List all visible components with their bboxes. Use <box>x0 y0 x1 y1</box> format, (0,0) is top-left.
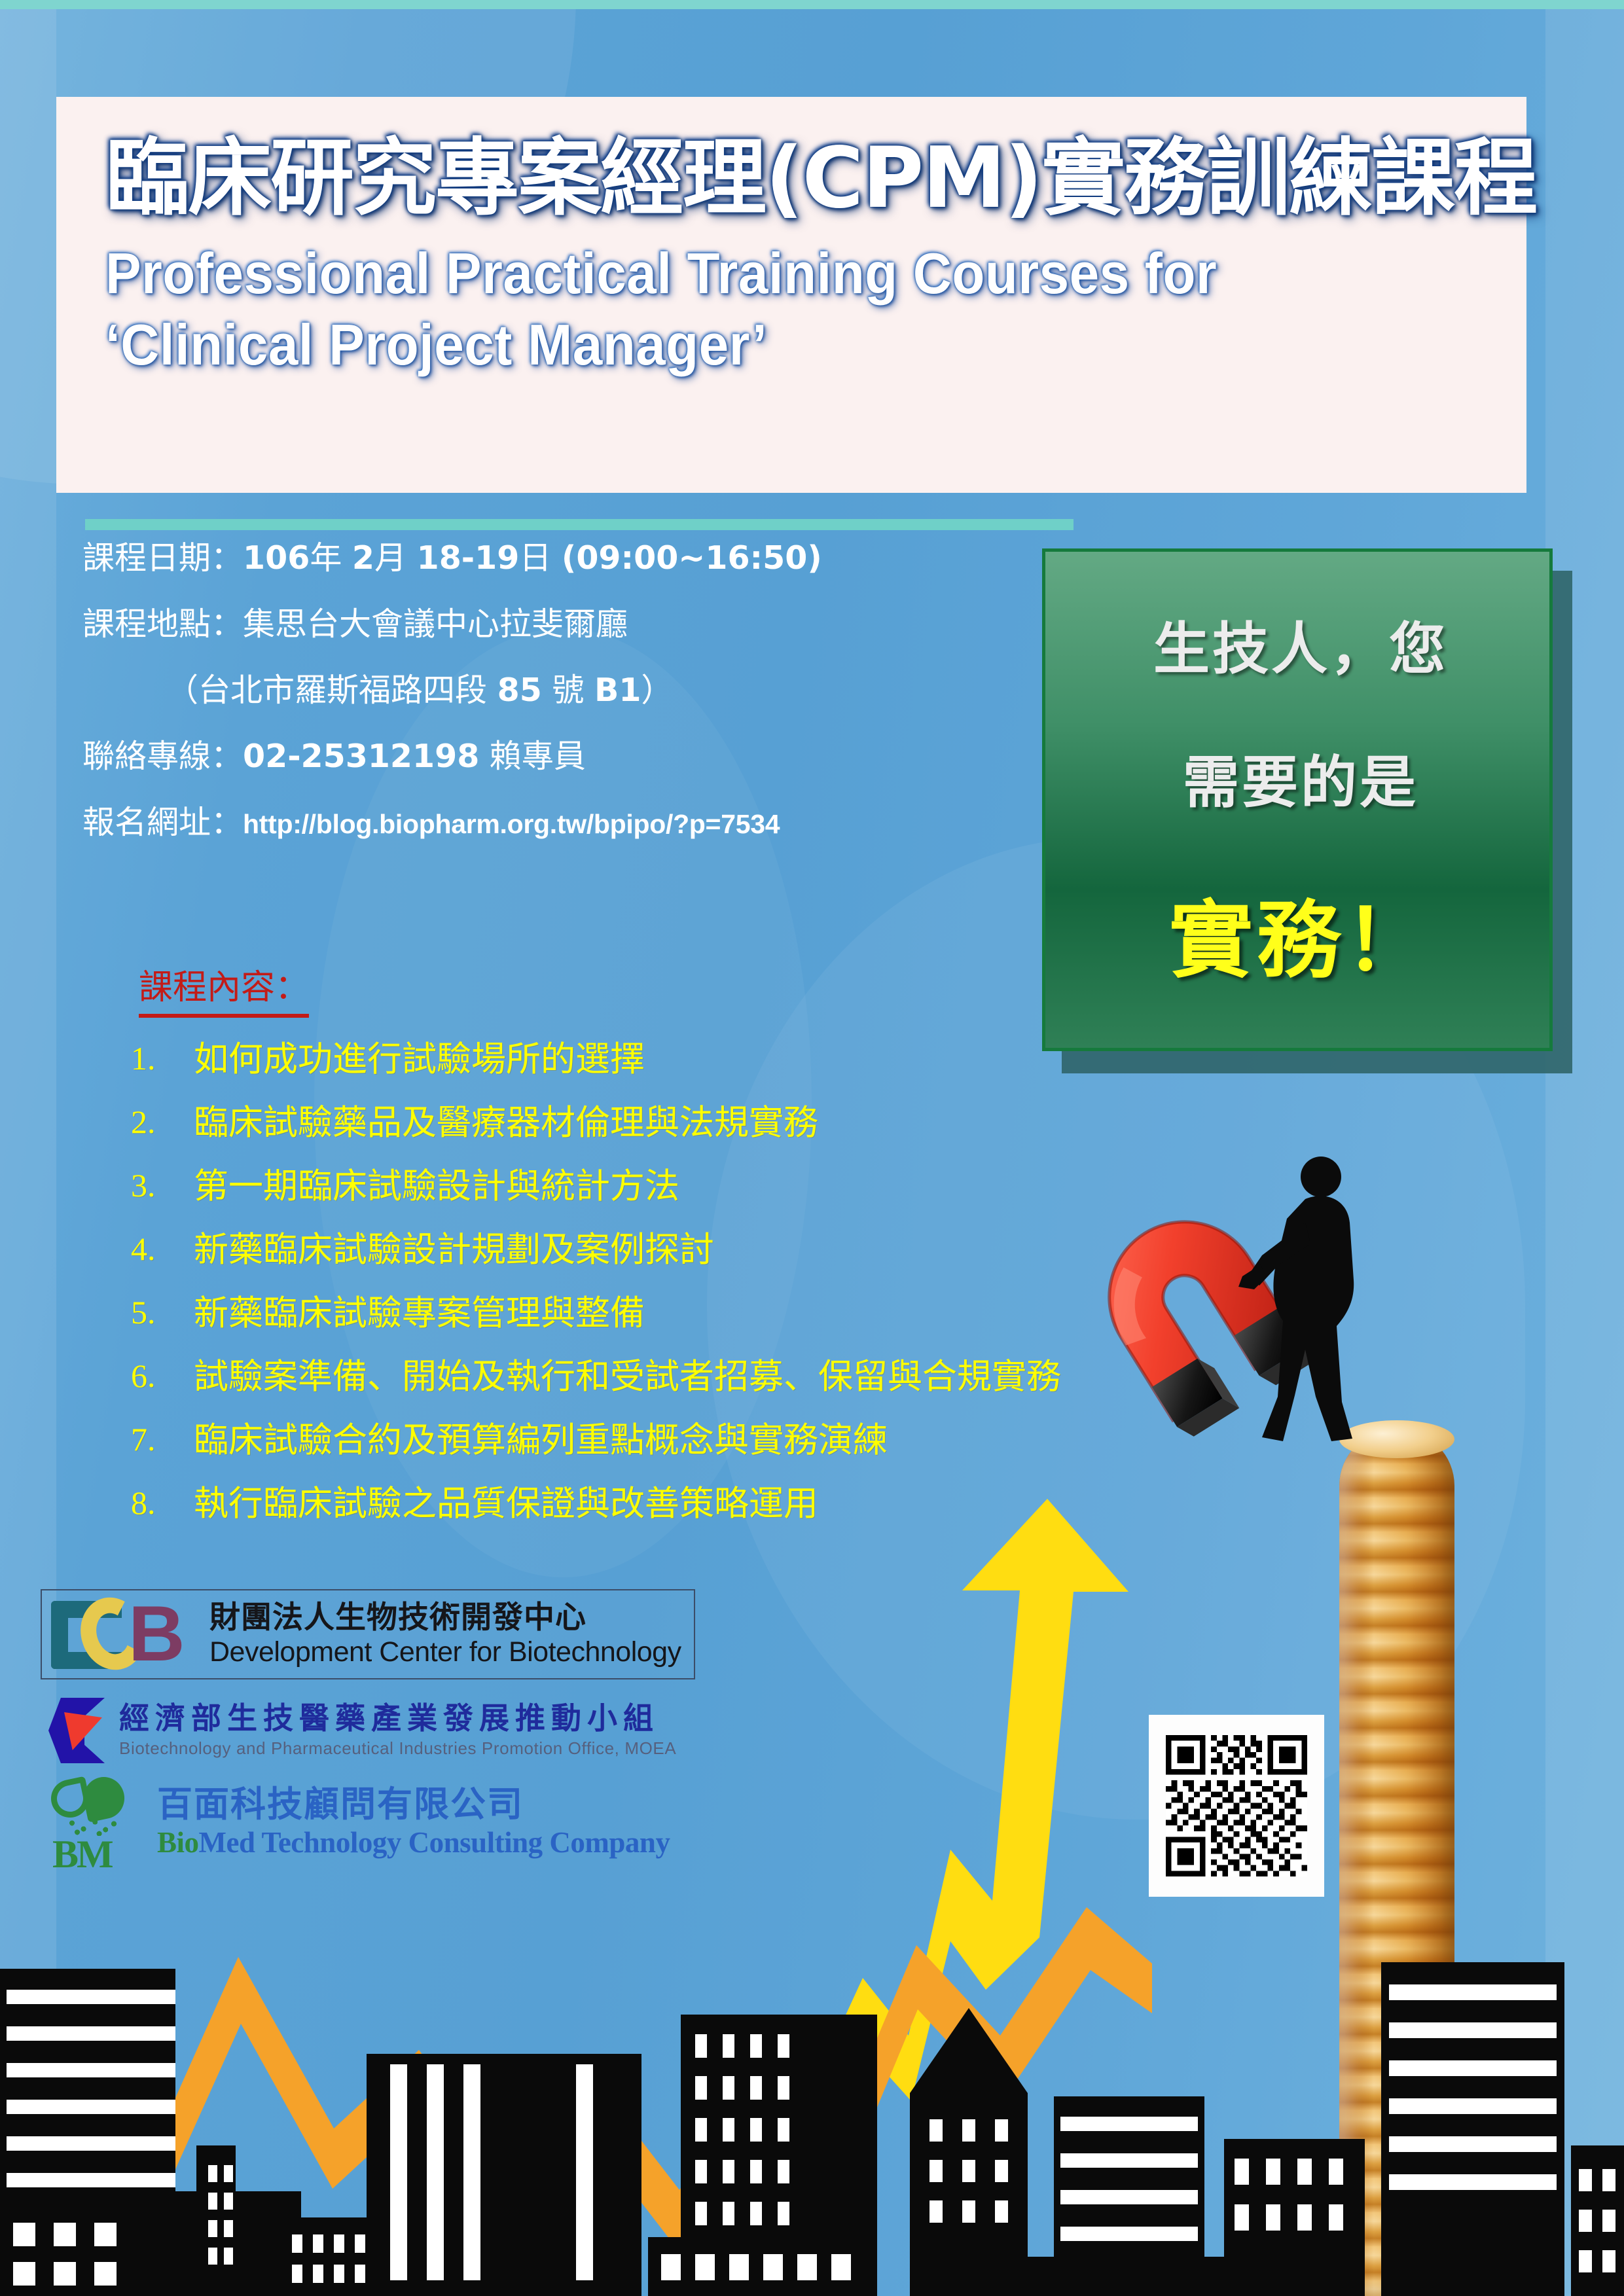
contact-phone-row: 聯絡專線：02-25312198 賴專員 <box>82 740 1045 772</box>
course-date-day-unit: 日 <box>519 539 551 577</box>
course-item-text: 臨床試驗合約及預算編列重點概念與實務演練 <box>194 1423 888 1458</box>
poster-canvas: 臨床研究專案經理(CPM)實務訓練課程 Professional Practic… <box>0 0 1624 2296</box>
course-item-number: 1. <box>131 1042 194 1075</box>
course-item-number: 5. <box>131 1296 194 1329</box>
page-title-english-line2: ‘Clinical Project Manager’ <box>105 309 1396 380</box>
course-address-floor: B1 <box>594 672 641 709</box>
slogan-line-2: 需要的是 <box>1045 736 1556 818</box>
biomed-name-english: BioMed Technology Consulting Company <box>157 1825 702 1859</box>
title-separator-rule <box>85 519 1074 530</box>
dcb-logo-text: 財團法人生物技術開發中心 Development Center for Biot… <box>206 1601 694 1668</box>
course-date-month-unit: 月 <box>374 539 406 577</box>
biomed-name-chinese: 百面科技顧問有限公司 <box>157 1786 702 1823</box>
course-venue-row: 課程地點：集思台大會議中心拉斐爾廳 <box>82 608 1045 640</box>
businessman-silhouette-icon <box>1237 1145 1388 1453</box>
course-item-text: 第一期臨床試驗設計與統計方法 <box>194 1169 679 1204</box>
qr-code-panel <box>1149 1715 1324 1897</box>
course-list-item: 2. 臨床試驗藥品及醫療器材倫理與法規實務 <box>131 1105 1309 1140</box>
course-date-year-unit: 年 <box>310 539 342 577</box>
course-address-close: ） <box>641 672 673 709</box>
page-title-english-line1: Professional Practical Training Courses … <box>105 238 1396 309</box>
course-content-heading: 課程內容： <box>139 960 309 1018</box>
top-teal-rule <box>0 0 1624 9</box>
course-item-text: 臨床試驗藥品及醫療器材倫理與法規實務 <box>194 1105 818 1140</box>
course-item-text: 新藥臨床試驗專案管理與整備 <box>194 1296 645 1331</box>
dcb-logo-mark-icon: B <box>42 1594 206 1674</box>
course-info-block: 課程日期：106年 2月 18-19日 (09:00~16:50) 課程地點：集… <box>82 542 1045 872</box>
biomed-name-english-rest: Med Technology Consulting Company <box>199 1826 670 1859</box>
course-address-unit: 號 <box>552 672 584 709</box>
course-venue-label: 課程地點： <box>82 605 243 643</box>
dcb-name-english: Development Center for Biotechnology <box>209 1637 694 1668</box>
dcb-name-chinese: 財團法人生物技術開發中心 <box>209 1601 694 1635</box>
biomed-logo-mark-icon: BM <box>41 1777 152 1869</box>
course-date-label: 課程日期： <box>82 539 243 577</box>
course-item-text: 新藥臨床試驗設計規劃及案例探討 <box>194 1232 714 1267</box>
course-item-number: 7. <box>131 1423 194 1456</box>
contact-phone-number[interactable]: 02-25312198 <box>243 738 479 775</box>
registration-url-link[interactable]: http://blog.biopharm.org.tw/bpipo/?p=753… <box>243 809 780 839</box>
biomed-mark-letters: BM <box>52 1832 112 1877</box>
city-skyline-icon <box>0 1929 1624 2296</box>
biomed-capsule-solid-icon <box>80 1773 128 1822</box>
course-item-number: 8. <box>131 1486 194 1519</box>
moea-logo-text: 經濟部生技醫藥產業發展推動小組 Biotechnology and Pharma… <box>114 1702 706 1758</box>
title-card: 臨床研究專案經理(CPM)實務訓練課程 Professional Practic… <box>56 97 1526 493</box>
course-item-number: 6. <box>131 1359 194 1392</box>
course-item-text: 如何成功進行試驗場所的選擇 <box>194 1042 645 1077</box>
page-title-chinese: 臨床研究專案經理(CPM)實務訓練課程 <box>105 136 1493 222</box>
course-date-row: 課程日期：106年 2月 18-19日 (09:00~16:50) <box>82 542 1045 574</box>
biomed-name-english-prefix: Bio <box>157 1826 199 1859</box>
moea-name-english: Biotechnology and Pharmaceutical Industr… <box>119 1738 706 1759</box>
course-date-time: (09:00~16:50) <box>562 539 822 577</box>
course-address-number: 85 <box>497 672 542 709</box>
slogan-line-1: 生技人，您 <box>1045 603 1556 685</box>
course-date-days: 18-19 <box>417 539 520 577</box>
course-address-row: （台北市羅斯福路四段 85 號 B1） <box>82 674 1045 706</box>
course-item-number: 4. <box>131 1232 194 1265</box>
sponsor-logo-moea: 經濟部生技醫藥產業發展推動小組 Biotechnology and Pharma… <box>45 1694 706 1767</box>
course-date-year: 106 <box>243 539 310 577</box>
moea-name-chinese: 經濟部生技醫藥產業發展推動小組 <box>119 1702 706 1734</box>
course-address-prefix: （台北市羅斯福路四段 <box>166 672 487 709</box>
course-list-item: 1. 如何成功進行試驗場所的選擇 <box>131 1042 1309 1077</box>
course-item-number: 2. <box>131 1105 194 1138</box>
contact-person: 賴專員 <box>490 738 586 775</box>
sponsor-logo-biomed: BM 百面科技顧問有限公司 BioMed Technology Consulti… <box>41 1775 702 1871</box>
qr-code-icon[interactable] <box>1166 1735 1307 1876</box>
page-title-english: Professional Practical Training Courses … <box>105 238 1396 380</box>
course-item-text: 試驗案準備、開始及執行和受試者招募、保留與合規實務 <box>194 1359 1061 1394</box>
moea-logo-mark-icon <box>45 1698 114 1763</box>
sponsor-logo-dcb: B 財團法人生物技術開發中心 Development Center for Bi… <box>41 1589 695 1679</box>
course-item-number: 3. <box>131 1169 194 1202</box>
dcb-letter-b: B <box>128 1598 196 1670</box>
course-date-month: 2 <box>352 539 374 577</box>
registration-url-row: 報名網址：http://blog.biopharm.org.tw/bpipo/?… <box>82 806 1045 838</box>
course-venue-value: 集思台大會議中心拉斐爾廳 <box>243 605 628 643</box>
slogan-callout-box: 生技人，您 需要的是 實務！ <box>1042 548 1553 1051</box>
slogan-line-3-highlight: 實務！ <box>1045 872 1556 994</box>
biomed-logo-text: 百面科技顧問有限公司 BioMed Technology Consulting … <box>152 1786 702 1860</box>
registration-url-label: 報名網址： <box>82 804 243 841</box>
contact-phone-label: 聯絡專線： <box>82 738 243 775</box>
